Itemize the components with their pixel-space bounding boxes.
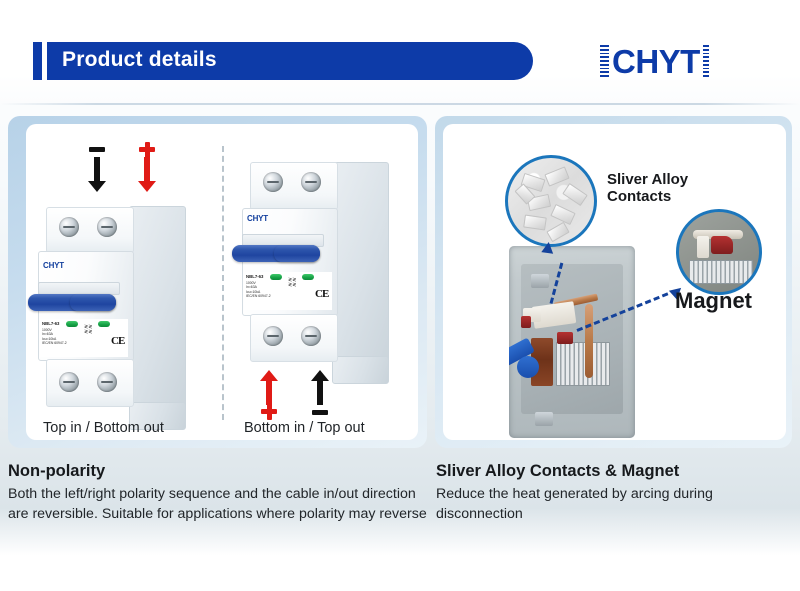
arc-chute [556, 342, 610, 386]
spec-plate: NBL7-63 1000VIn=63AIcu=10kAIEC/EN 60947-… [244, 272, 332, 310]
alloy-chip [562, 183, 588, 206]
magnet-circle [676, 209, 762, 295]
feature-text-left: Non-polarity Both the left/right polarit… [8, 462, 428, 524]
figure-caption: Top in / Bottom out [43, 420, 164, 436]
device-side-rail [332, 356, 389, 384]
terminal-screw [263, 172, 283, 192]
terminal-screw [301, 326, 321, 346]
terminal-screw [97, 372, 117, 392]
company-logo: CHYT [600, 41, 709, 81]
terminal-screw [59, 217, 79, 237]
alloy-chip [544, 166, 569, 186]
header: Product details CHYT [0, 0, 800, 104]
device-brand-label: CHYT [247, 214, 268, 223]
magnet-armature-white [697, 236, 709, 258]
circuit-symbol-icon: ≷≷≷≷ [288, 278, 296, 288]
toggle-lever-second[interactable] [274, 245, 320, 262]
magnet-arc-plates [689, 260, 753, 284]
status-led [270, 274, 282, 280]
logo-left-bars-icon [600, 45, 609, 77]
feature-title: Sliver Alloy Contacts & Magnet [436, 462, 792, 481]
terminal-screw [263, 326, 283, 346]
page-title: Product details [62, 48, 217, 72]
right-image-card: Sliver Alloy Contacts Magnet [443, 124, 786, 440]
feature-description: Reduce the heat generated by arcing duri… [436, 484, 792, 524]
sign-minus-top [89, 147, 105, 152]
status-led [98, 321, 110, 327]
sign-minus-bottom [312, 410, 328, 415]
figure-bottom-in-top-out: CHYT NBL7-63 1000VIn=63AIcu=10kAIEC/EN 6… [222, 124, 418, 440]
sign-plus-bottom [261, 409, 277, 414]
left-feature-panel: CHYT NBL7-63 1000VIn=63AIcu=10kAIEC/EN 6… [8, 116, 427, 448]
header-accent-bar [33, 42, 42, 80]
alloy-chip [523, 215, 547, 231]
sign-plus-top [139, 147, 155, 152]
spec-model: NBL7-63 [246, 274, 263, 279]
header-divider [0, 103, 800, 105]
spec-lines: 1000VIn=63AIcu=10kAIEC/EN 60947-2 [246, 281, 271, 299]
sliver-alloy-contacts-circle [505, 155, 597, 247]
terminal-screw-bottom [535, 412, 553, 426]
feature-description: Both the left/right polarity sequence an… [8, 484, 428, 524]
figure-top-in-bottom-out: CHYT NBL7-63 1000VIn=63AIcu=10kAIEC/EN 6… [26, 124, 222, 440]
terminal-screw [97, 217, 117, 237]
alloy-chip [546, 222, 569, 242]
terminal-screw [301, 172, 321, 192]
contact-pad [521, 316, 531, 328]
circuit-symbol-icon: ≷≷≷≷ [84, 325, 92, 335]
device-side-profile [332, 162, 389, 380]
spec-model: NBL7-63 [42, 321, 59, 326]
callout-sliver-alloy-contacts: Sliver Alloy Contacts [607, 171, 688, 205]
callout-magnet: Magnet [675, 292, 752, 309]
logo-right-bars-icon [703, 45, 709, 77]
callout-line-1: Sliver Alloy [607, 171, 688, 188]
right-feature-panel: Sliver Alloy Contacts Magnet [435, 116, 792, 448]
magnet-core [711, 236, 733, 254]
logo-wordmark: CHYT [612, 45, 700, 78]
ce-mark: CE [111, 335, 124, 347]
ce-mark: CE [315, 288, 328, 300]
feature-title: Non-polarity [8, 462, 428, 481]
left-image-card: CHYT NBL7-63 1000VIn=63AIcu=10kAIEC/EN 6… [26, 124, 418, 440]
spec-plate: NBL7-63 1000VIn=63AIcu=10kAIEC/EN 60947-… [40, 319, 128, 357]
copper-conductor-arc [585, 304, 593, 378]
terminal-screw [59, 372, 79, 392]
toggle-lever-second[interactable] [70, 294, 116, 311]
terminal-screw-top [531, 274, 549, 288]
blue-toggle-knob [517, 356, 539, 378]
status-led [66, 321, 78, 327]
product-details-slide: Product details CHYT [0, 0, 800, 591]
mcb-cutaway-photo [509, 246, 635, 438]
device-brand-label: CHYT [43, 261, 64, 270]
feature-text-right: Sliver Alloy Contacts & Magnet Reduce th… [436, 462, 792, 524]
device-side-profile [129, 206, 186, 426]
spec-lines: 1000VIn=63AIcu=10kAIEC/EN 60947-2 [42, 328, 67, 346]
magnet-armature [557, 332, 573, 344]
contacts-pointer-arrow-icon [541, 241, 554, 254]
figure-caption: Bottom in / Top out [244, 420, 365, 436]
status-led [302, 274, 314, 280]
callout-line-2: Contacts [607, 188, 671, 205]
